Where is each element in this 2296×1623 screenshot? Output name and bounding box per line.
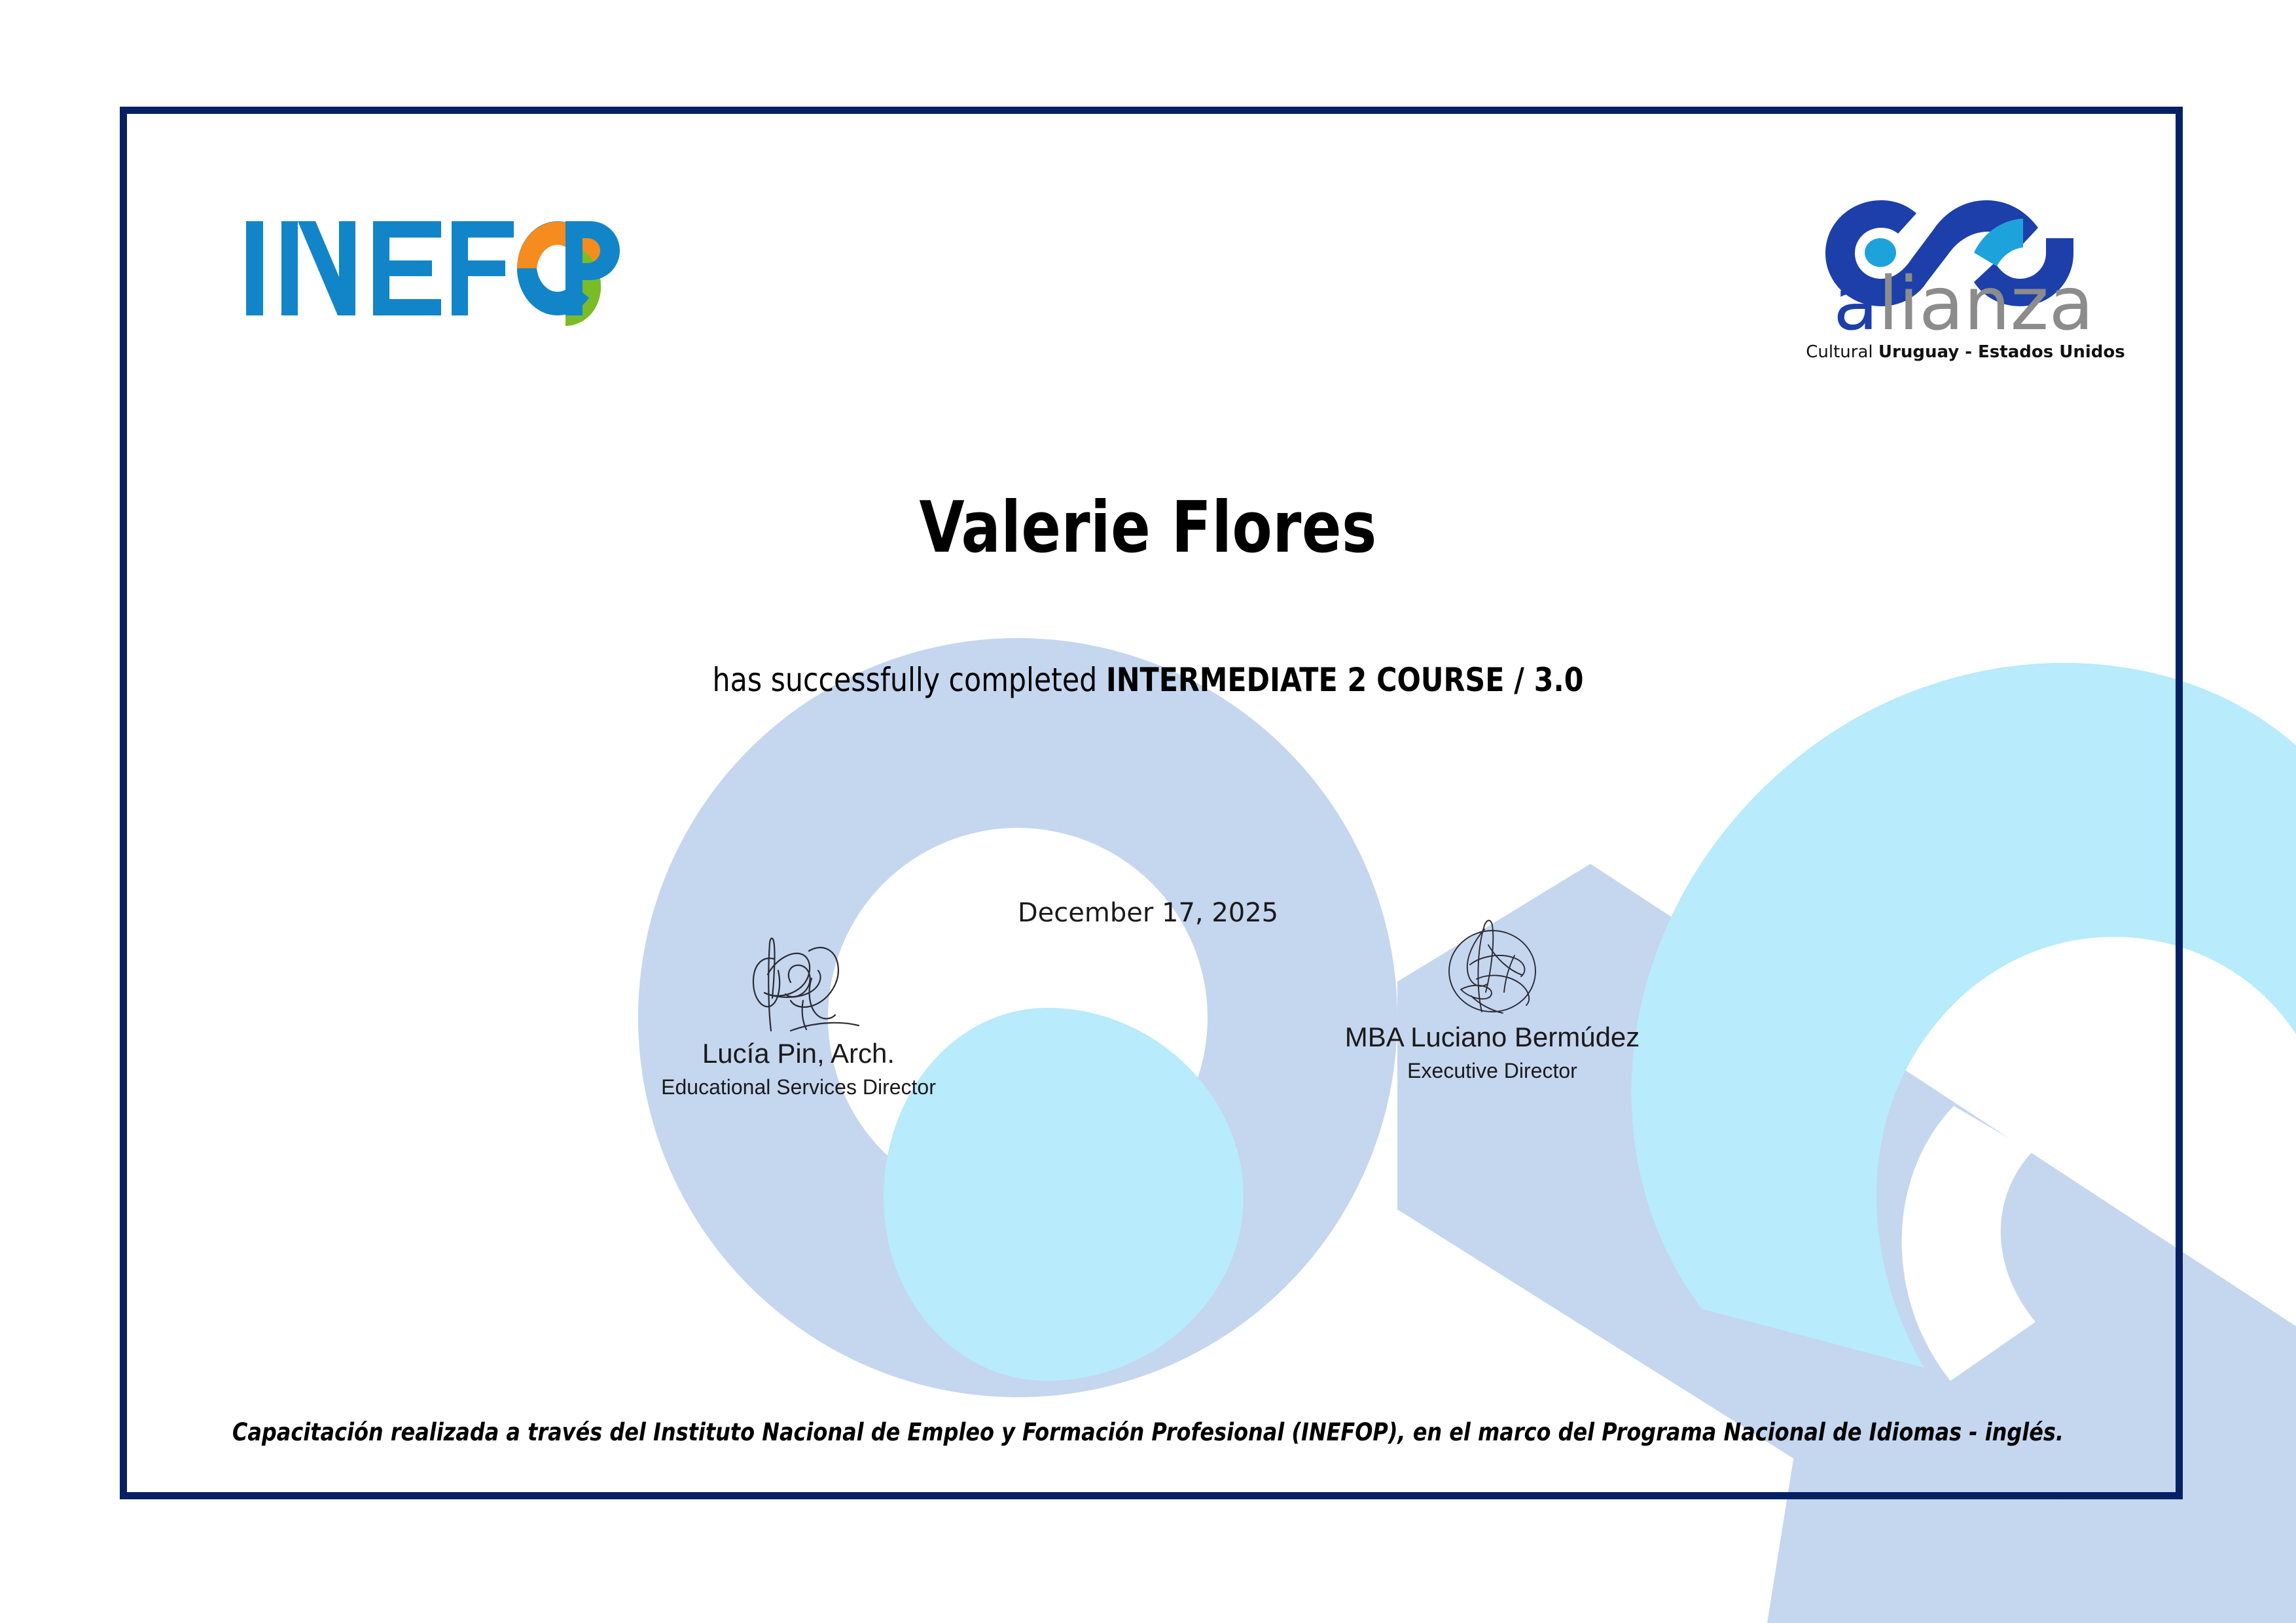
signatory-title: Educational Services Director [550, 1074, 1047, 1101]
alianza-logo: alianza Cultural Uruguay - Estados Unido… [1797, 175, 2130, 365]
completion-statement: has successfully completed INTERMEDIATE … [58, 661, 2239, 699]
signature-block-educational-services-director: Lucía Pin, Arch. Educational Services Di… [550, 933, 1047, 1101]
alianza-tagline: Cultural Uruguay - Estados Unidos [1806, 342, 2125, 362]
signatory-title: Executive Director [1244, 1058, 1741, 1085]
inefop-logo [243, 209, 623, 327]
handwritten-signature-icon [713, 933, 884, 1037]
signatory-name: Lucía Pin, Arch. [550, 1037, 1047, 1070]
inefop-wordmark-letters [246, 221, 514, 315]
signatory-name: MBA Luciano Bermúdez [1244, 1021, 1741, 1054]
handwritten-signature-icon [1414, 916, 1571, 1021]
recipient-name: Valerie Flores [92, 486, 2204, 571]
alianza-wordmark: alianza [1833, 262, 2094, 347]
signature-block-executive-director: MBA Luciano Bermúdez Executive Director [1244, 916, 1741, 1084]
course-name: INTERMEDIATE 2 COURSE / 3.0 [1106, 661, 1584, 699]
footer-note: Capacitación realizada a través del Inst… [46, 1418, 2250, 1446]
issue-date: December 17, 2025 [0, 898, 2296, 928]
certificate-page: alianza Cultural Uruguay - Estados Unido… [0, 0, 2296, 1623]
completion-prefix: has successfully completed [713, 661, 1106, 699]
